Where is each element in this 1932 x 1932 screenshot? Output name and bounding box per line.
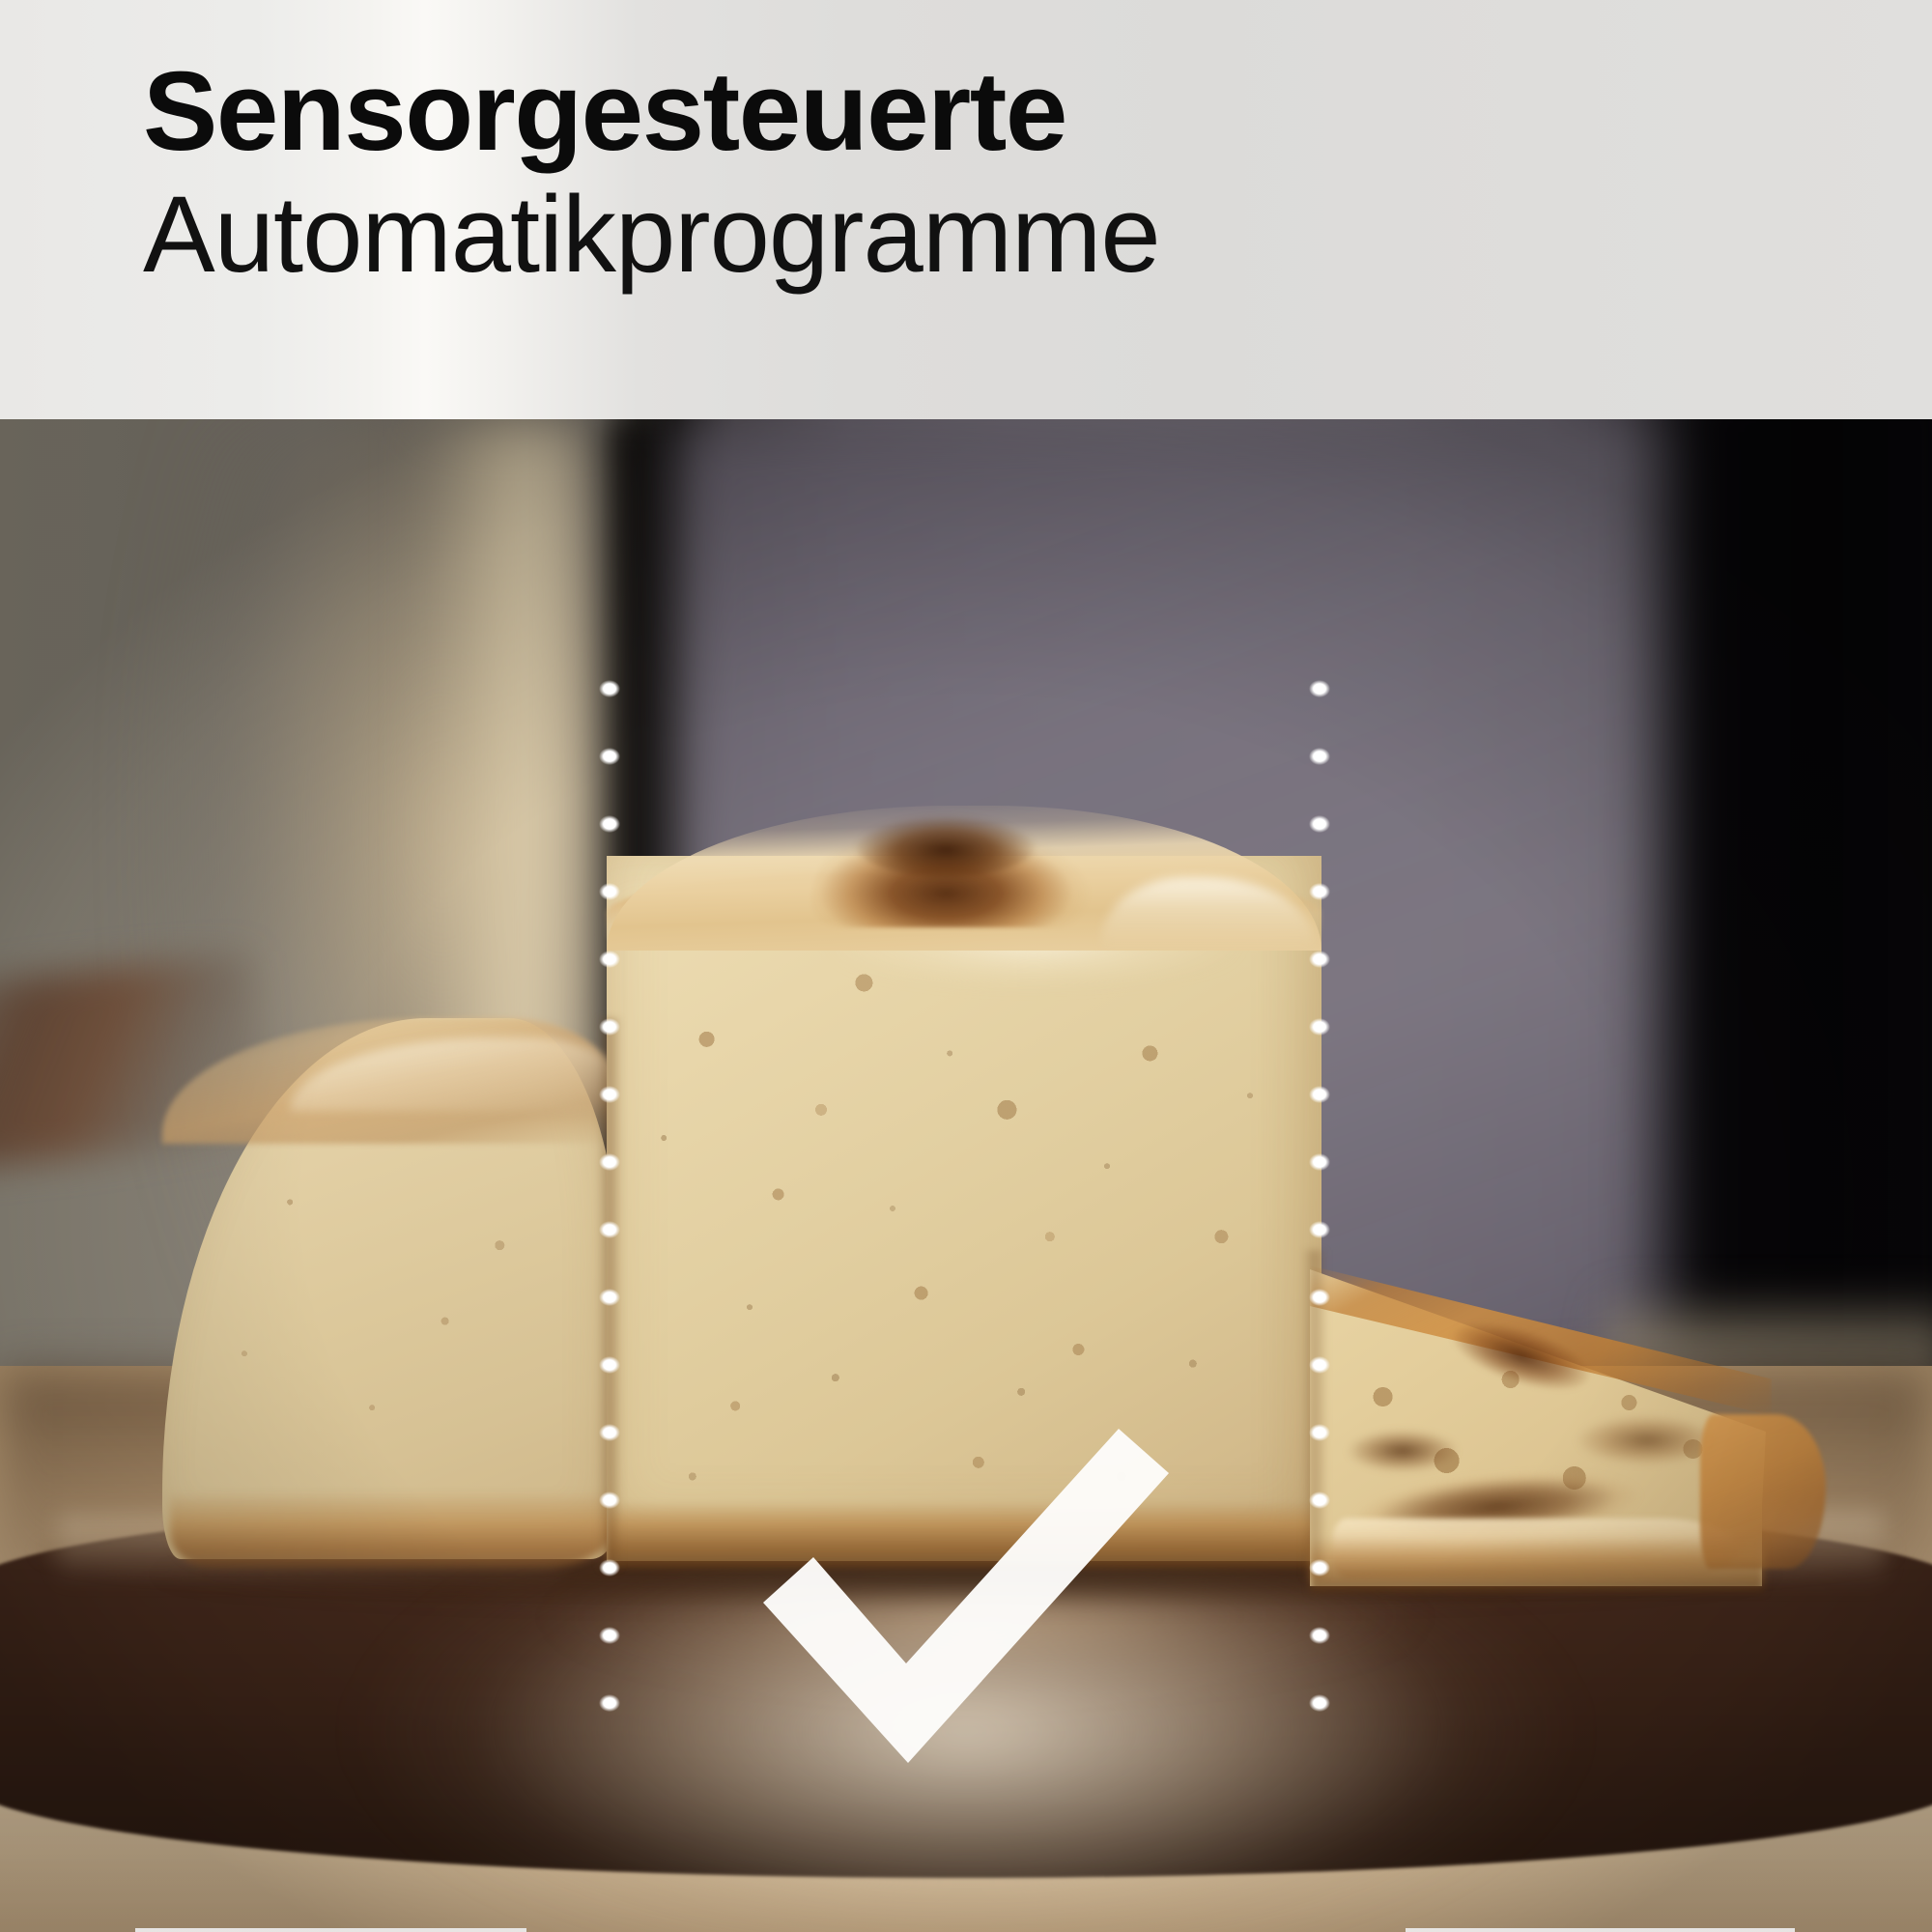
- divider-dotted-right: [1309, 655, 1330, 1737]
- bread-right-bottom-crust: [1310, 1536, 1764, 1592]
- bread-right-void-medium: [1575, 1414, 1719, 1466]
- bread-left-bottom-crust: [170, 1492, 624, 1569]
- product-photo: Zu kurz geknetet Perfekt Zu lange geknet…: [0, 419, 1932, 1932]
- caption-too-short-kneaded: Zu kurz geknetet: [135, 1928, 526, 1932]
- page-subtitle: Automatikprogramme: [143, 178, 1843, 292]
- page-title: Sensorgesteuerte: [143, 54, 1843, 168]
- header-text-block: Sensorgesteuerte Automatikprogramme: [143, 54, 1843, 292]
- divider-dotted-left: [599, 655, 620, 1737]
- header-banner: Sensorgesteuerte Automatikprogramme: [0, 0, 1932, 419]
- bread-middle-bottom-crust: [607, 1501, 1321, 1569]
- bread-loaf: [0, 419, 1932, 1932]
- bread-middle-char-spot: [854, 810, 1037, 877]
- bread-right-void-small: [1345, 1428, 1461, 1474]
- caption-too-long-kneaded: Zu lange geknetet: [1406, 1928, 1795, 1932]
- promo-graphic: Sensorgesteuerte Automatikprogramme: [0, 0, 1932, 1932]
